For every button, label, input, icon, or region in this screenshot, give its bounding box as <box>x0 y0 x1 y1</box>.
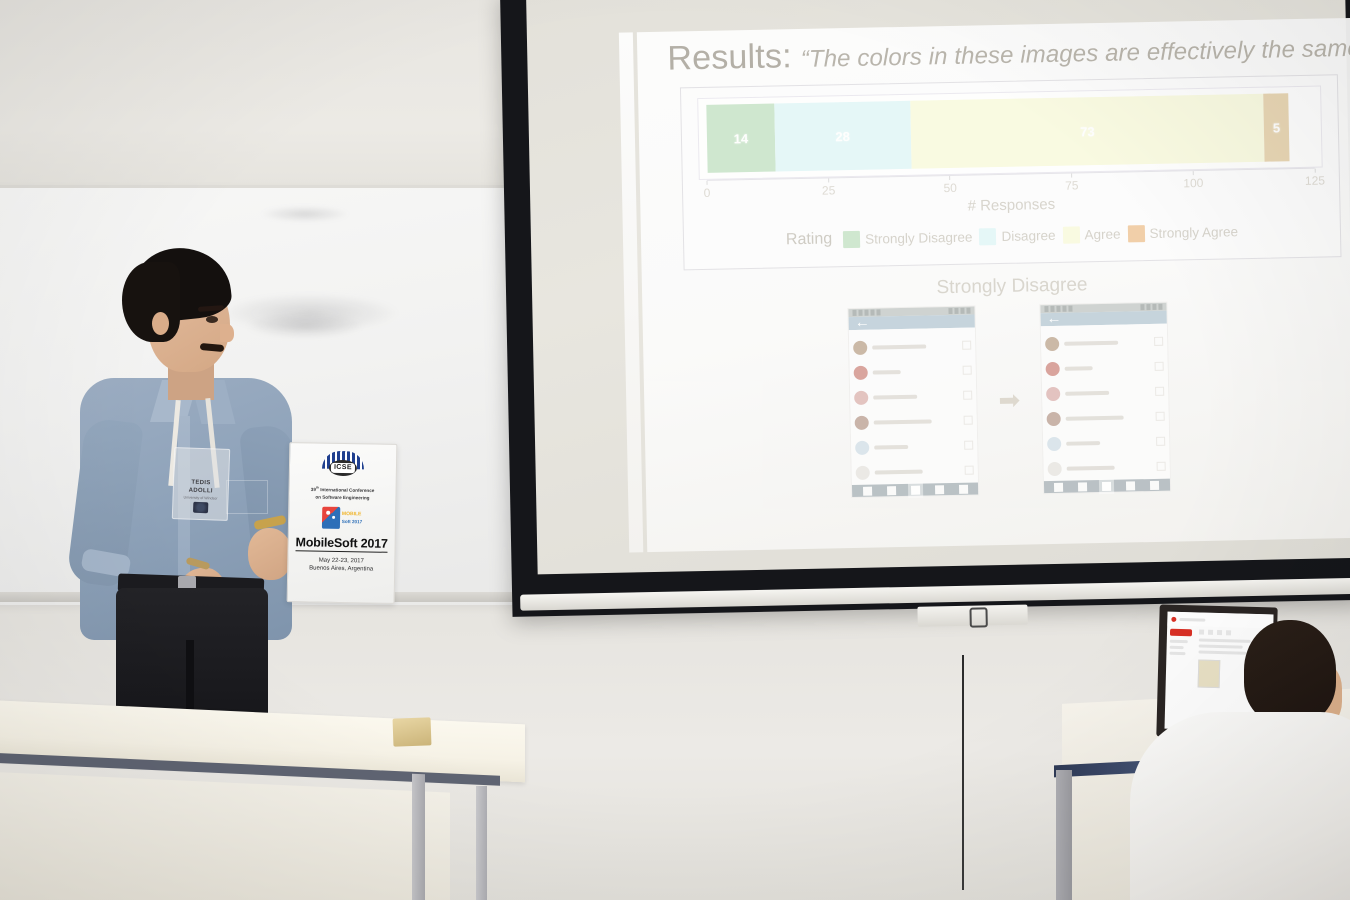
avatar <box>1047 461 1061 475</box>
avatar <box>854 365 868 379</box>
checkbox-icon <box>1154 337 1163 346</box>
presenter: TEDIS ADOLLI University of Windsor <box>60 240 320 740</box>
x-tick-label: 100 <box>1183 176 1203 190</box>
avatar <box>853 340 867 354</box>
bar-segment-strongly-disagree: 14 <box>706 104 775 173</box>
list-item <box>1046 379 1164 406</box>
x-tick-50: 50 <box>943 176 957 195</box>
list-item <box>1047 454 1165 481</box>
presenter-desk <box>0 712 540 900</box>
desk-leg <box>412 774 425 900</box>
checkbox-icon <box>963 366 972 375</box>
legend-item-strongly-agree: Strongly Agree <box>1127 223 1238 242</box>
checkbox-icon <box>964 416 973 425</box>
avatar <box>855 440 869 454</box>
checkbox-icon <box>1155 412 1164 421</box>
avatar <box>855 415 869 429</box>
back-arrow-icon: ← <box>1046 313 1059 326</box>
profile-icon <box>959 484 968 493</box>
badge-seal-icon <box>192 502 207 514</box>
x-tick-label: 75 <box>1065 178 1079 192</box>
conference-line1-rest: International Conference <box>319 487 374 493</box>
x-tick-0: 0 <box>703 181 710 200</box>
conference-sign: ICSE 39th International Conference on So… <box>287 442 398 604</box>
stacked-bar: 14 28 73 5 <box>706 93 1313 173</box>
badge-name-line2: ADOLLI <box>189 488 213 496</box>
explore-icon <box>887 486 896 495</box>
bar-segment-disagree: 28 <box>774 101 911 172</box>
list-item-label <box>875 469 923 474</box>
x-tick-label: 125 <box>1305 173 1325 187</box>
x-tick-label: 25 <box>822 183 836 197</box>
name-badge: TEDIS ADOLLI University of Windsor <box>172 447 230 521</box>
chart-legend: Rating Strongly Disagree Disagree Agree <box>700 221 1324 252</box>
phone-bottom-nav <box>1044 479 1170 494</box>
home-icon <box>863 486 872 495</box>
audience-area <box>1050 600 1350 900</box>
badge-name-line1: TEDIS <box>191 480 210 488</box>
avatar <box>856 465 870 479</box>
list-item-label <box>874 444 908 449</box>
chat-icon <box>935 485 944 494</box>
checkbox-icon <box>965 466 974 475</box>
whiteboard-eraser <box>393 717 432 746</box>
chat-icon <box>1126 481 1135 490</box>
avatar <box>854 390 868 404</box>
explore-icon <box>1078 482 1087 491</box>
icse-logo-icon: ICSE <box>322 451 364 480</box>
bar-segment-strongly-agree: 5 <box>1264 93 1290 161</box>
list-item <box>854 358 972 385</box>
presenter-hair-side <box>122 262 180 342</box>
presenter-right-hand <box>248 528 292 580</box>
phone-contact-list <box>849 328 978 485</box>
bar-empty-remainder <box>1288 93 1314 161</box>
whiteboard-smudge <box>260 206 350 222</box>
audience-desk-leg <box>1056 770 1072 900</box>
checkbox-icon <box>1156 437 1165 446</box>
legend-label-agree: Agree <box>1084 226 1120 242</box>
icse-logo-text: ICSE <box>331 463 355 473</box>
bar-label-strongly-agree: 5 <box>1273 120 1281 135</box>
checkbox-icon <box>1155 387 1164 396</box>
bar-label-agree: 73 <box>1080 124 1095 139</box>
list-item <box>1046 404 1164 431</box>
avatar <box>1045 361 1059 375</box>
screenshot-comparison-row: ← <box>654 299 1350 501</box>
back-arrow-icon: ← <box>855 317 868 330</box>
legend-swatch-agree <box>1062 226 1079 243</box>
list-item-label <box>1067 465 1115 470</box>
slide-title-prefix: Results: <box>667 37 792 78</box>
slide-sub-caption: Strongly Disagree <box>654 269 1350 305</box>
audience-member <box>1130 620 1350 900</box>
legend-label-disagree: Disagree <box>1001 227 1055 243</box>
chart-card: 14 28 73 5 <box>680 74 1342 270</box>
recolored-app-screenshot: ← <box>1040 303 1170 493</box>
list-item-label <box>1065 366 1093 371</box>
projection-screen-hook <box>917 605 1027 627</box>
projection-screen-surface: Results: “The colors in these images are… <box>526 0 1350 574</box>
list-item <box>856 458 974 485</box>
x-tick-75: 75 <box>1065 173 1079 192</box>
chart-plot-area: 14 28 73 5 <box>697 86 1323 181</box>
list-item-label <box>1064 340 1118 345</box>
list-item <box>1045 329 1163 356</box>
list-item-label <box>1066 441 1100 446</box>
comparison-arrow-icon: ➡ <box>998 387 1020 413</box>
list-item <box>1047 429 1165 456</box>
mobilesoft-logo-icon: MOBILE Soft 2017 <box>322 506 363 529</box>
checkbox-icon <box>1156 462 1165 471</box>
list-item-label <box>873 370 901 375</box>
presenter-nose <box>220 324 234 342</box>
original-app-screenshot: ← <box>849 307 979 497</box>
presentation-slide: Results: “The colors in these images are… <box>637 18 1350 553</box>
legend-swatch-strongly-agree <box>1127 225 1144 242</box>
checkbox-icon <box>1154 362 1163 371</box>
projection-screen-frame: Results: “The colors in these images are… <box>500 0 1350 617</box>
list-item <box>854 383 972 410</box>
legend-item-strongly-disagree: Strongly Disagree <box>843 228 973 248</box>
checkbox-icon <box>962 341 971 350</box>
phone-contact-list <box>1041 324 1170 481</box>
presenter-eye <box>206 316 218 323</box>
camera-icon-selected <box>911 485 920 494</box>
legend-swatch-strongly-disagree <box>843 230 860 247</box>
list-item-label <box>873 394 917 399</box>
mobilesoft-logo-bottom: Soft 2017 <box>342 518 363 525</box>
legend-label-strongly-disagree: Strongly Disagree <box>865 229 973 246</box>
checkbox-icon <box>963 391 972 400</box>
audience-member-hair <box>1244 620 1336 724</box>
projection-screen-cord <box>962 655 964 890</box>
legend-title: Rating <box>786 230 833 249</box>
list-item-label <box>874 419 932 424</box>
presenter-shirt-pocket <box>226 480 268 514</box>
presenter-ear <box>152 312 169 335</box>
conference-location: Buenos Aires, Argentina <box>309 565 373 572</box>
phone-bottom-nav <box>852 483 978 498</box>
list-item-label <box>872 344 926 349</box>
list-item <box>1045 354 1163 381</box>
avatar <box>1046 386 1060 400</box>
legend-item-disagree: Disagree <box>979 226 1055 245</box>
x-tick-25: 25 <box>822 178 836 197</box>
legend-item-agree: Agree <box>1062 225 1120 243</box>
x-tick-label: 0 <box>704 186 711 200</box>
bar-label-disagree: 28 <box>835 129 850 144</box>
home-icon <box>1054 482 1063 491</box>
avatar <box>1045 336 1059 350</box>
mobilesoft-logo-top: MOBILE <box>342 511 363 518</box>
x-tick-label: 50 <box>943 181 957 195</box>
status-icons-right <box>949 308 971 314</box>
legend-label-strongly-agree: Strongly Agree <box>1149 224 1238 241</box>
slide-title: Results: “The colors in these images are… <box>649 24 1350 79</box>
x-tick-125: 125 <box>1305 168 1325 187</box>
bar-segment-agree: 73 <box>910 94 1265 169</box>
profile-icon <box>1150 480 1159 489</box>
list-item <box>853 333 971 360</box>
audience-member-shirt <box>1130 712 1350 900</box>
slide-title-quote: “The colors in these images are effectiv… <box>801 34 1350 74</box>
list-item-label <box>1066 415 1124 420</box>
conference-title: MobileSoft 2017 <box>295 535 387 553</box>
conference-dates: May 22-23, 2017 <box>319 557 364 564</box>
lecture-room-scene: Results: “The colors in these images are… <box>0 0 1350 900</box>
checkbox-icon <box>964 441 973 450</box>
desk-front-panel <box>0 771 450 900</box>
list-item <box>855 433 973 460</box>
conference-line2: on Software Engineering <box>315 493 369 501</box>
badge-org: University of Windsor <box>183 495 217 500</box>
avatar <box>1046 411 1060 425</box>
legend-swatch-disagree <box>979 228 996 245</box>
desk-leg <box>476 786 487 900</box>
list-item <box>855 408 973 435</box>
list-item-label <box>1065 390 1109 395</box>
bar-label-strongly-disagree: 14 <box>734 131 749 146</box>
camera-icon-selected <box>1102 481 1111 490</box>
avatar <box>1047 436 1061 450</box>
x-tick-100: 100 <box>1183 171 1203 190</box>
status-icons-right <box>1140 304 1162 310</box>
